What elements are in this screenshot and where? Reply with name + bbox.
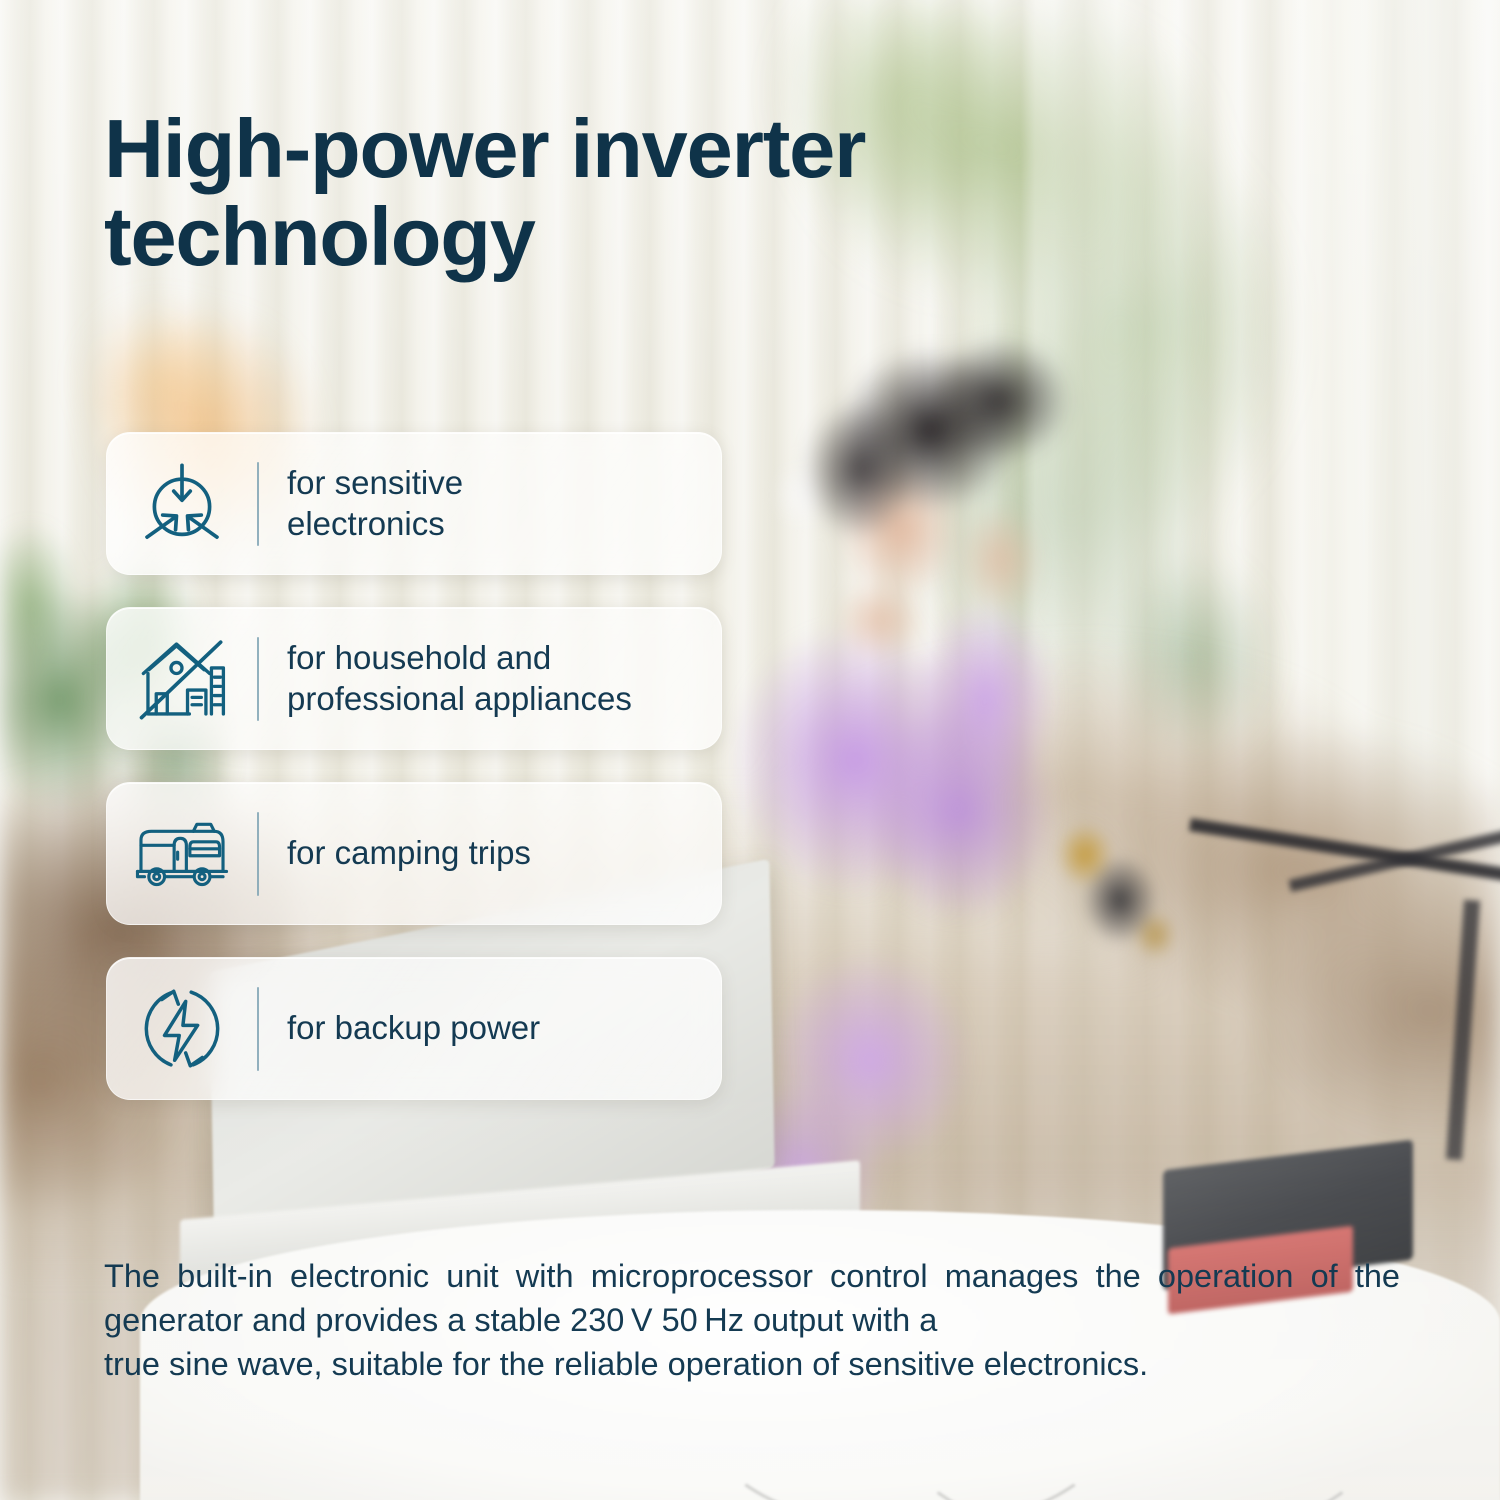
feature-label-camping-trips: for camping trips xyxy=(259,833,549,873)
description-line-1: The built-in electronic unit with microp… xyxy=(104,1258,1141,1294)
card-divider xyxy=(257,987,259,1071)
card-divider xyxy=(257,812,259,896)
description-line-3: true sine wave, suitable for the reliabl… xyxy=(104,1343,1400,1387)
card-divider xyxy=(257,637,259,721)
feature-card-camping-trips[interactable]: for camping trips xyxy=(106,782,722,925)
feature-card-backup-power[interactable]: for backup power xyxy=(106,957,722,1100)
feature-card-list: for sensitive electronics xyxy=(106,432,722,1100)
card-divider xyxy=(257,462,259,546)
feature-label-household-appliances: for household and professional appliance… xyxy=(259,638,650,719)
description-paragraph: The built-in electronic unit with microp… xyxy=(104,1255,1400,1387)
power-cycle-bolt-icon xyxy=(107,983,257,1075)
caravan-icon xyxy=(107,814,257,894)
feature-card-sensitive-electronics[interactable]: for sensitive electronics xyxy=(106,432,722,575)
protection-arrows-icon xyxy=(107,458,257,550)
feature-label-sensitive-electronics: for sensitive electronics xyxy=(259,463,481,544)
feature-card-household-appliances[interactable]: for household and professional appliance… xyxy=(106,607,722,750)
page-title: High-power inverter technology xyxy=(104,105,1104,281)
house-and-buildings-icon xyxy=(107,633,257,725)
poster-root: High-power inverter technology for sensi… xyxy=(0,0,1500,1500)
feature-label-backup-power: for backup power xyxy=(259,1008,558,1048)
